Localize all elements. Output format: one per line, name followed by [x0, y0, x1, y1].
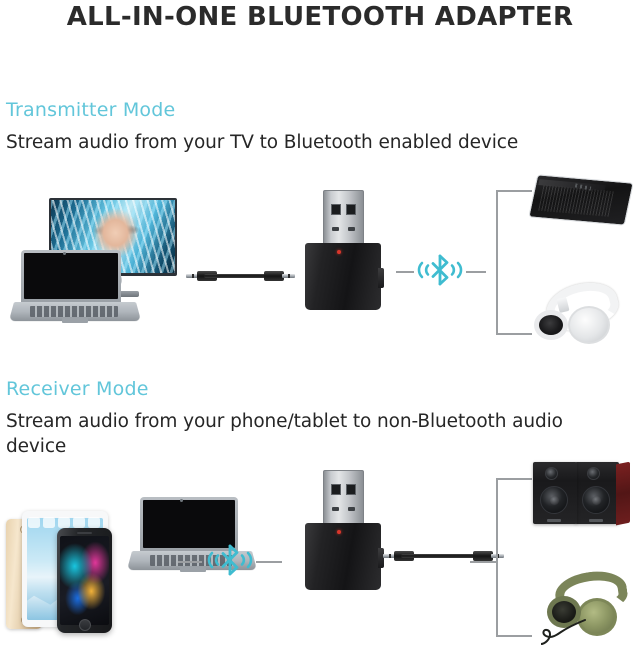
- usb-notch: [332, 227, 339, 231]
- phone-home-button: [79, 619, 91, 631]
- bracket-branch-headphones: [496, 333, 532, 335]
- page-title: ALL-IN-ONE BLUETOOTH ADAPTER: [0, 2, 640, 32]
- led-indicator-icon: [337, 250, 341, 254]
- headphones-earcup-left: [534, 310, 568, 340]
- usb-a-connector: [323, 470, 364, 526]
- usb-contact-slot: [346, 484, 356, 495]
- laptop-webcam-icon: [63, 252, 66, 255]
- connector-line-bt-to-bracket: [466, 271, 486, 273]
- speaker-woofer: [540, 486, 568, 514]
- connector-line-devices-to-bt: [178, 561, 202, 563]
- speaker-badge: [589, 519, 603, 522]
- connector-line-bt-to-adapter: [256, 561, 282, 563]
- speaker-right: [575, 462, 619, 524]
- usb-bluetooth-adapter-transmitter: [305, 190, 381, 310]
- speaker-left: [533, 462, 577, 524]
- speaker-tweeter: [545, 467, 558, 480]
- speaker-tweeter: [587, 467, 600, 480]
- aux-plug-tip-right: [491, 554, 504, 558]
- aux-cable-transmitter: [186, 270, 294, 282]
- usb-contact-slot: [331, 484, 341, 495]
- laptop-transmitter: [14, 250, 136, 324]
- aux-plug-body-right: [264, 271, 284, 281]
- usb-a-connector: [323, 190, 364, 246]
- usb-bluetooth-adapter-receiver: [305, 470, 381, 590]
- app-icon: [73, 517, 85, 528]
- transmitter-mode-heading: Transmitter Mode: [6, 99, 175, 121]
- bookshelf-speakers: [533, 462, 635, 528]
- headphones-cable: [541, 618, 597, 646]
- laptop-webcam-icon: [180, 499, 183, 502]
- phone-earpiece-speaker: [77, 532, 92, 534]
- receiver-mode-description: Stream audio from your phone/tablet to n…: [6, 409, 606, 459]
- app-icon: [43, 517, 55, 528]
- laptop-keyboard: [30, 306, 118, 317]
- usb-contact-slot: [331, 204, 341, 215]
- speaker-woofer: [582, 486, 610, 514]
- transmitter-mode-description: Stream audio from your TV to Bluetooth e…: [6, 130, 606, 155]
- adapter-body: [305, 243, 381, 310]
- bluetooth-icon: [412, 250, 468, 290]
- bracket-branch-speakers: [496, 478, 532, 480]
- usb-notch: [332, 507, 339, 511]
- smartphone: [57, 528, 112, 633]
- usb-contact-slot: [346, 204, 356, 215]
- bracket-branch-speaker: [496, 190, 532, 192]
- bluetooth-speaker: [533, 172, 633, 234]
- app-icon: [58, 517, 70, 528]
- adapter-mode-button[interactable]: [378, 268, 384, 288]
- phone-screen-wallpaper: [60, 536, 109, 625]
- speaker-badge: [547, 519, 561, 522]
- bracket-vertical-transmitter: [496, 190, 498, 334]
- headphones-earcup-right: [568, 306, 610, 344]
- bracket-branch-headphones: [496, 635, 532, 637]
- adapter-body: [305, 523, 381, 590]
- laptop-trackpad: [62, 318, 88, 323]
- white-headphones: [530, 282, 630, 344]
- green-headphones: [533, 572, 637, 646]
- laptop-screen: [24, 253, 118, 299]
- led-indicator-icon: [337, 530, 341, 534]
- usb-notch: [348, 227, 355, 231]
- connector-line-cable-to-bracket: [470, 561, 497, 563]
- bracket-vertical-receiver: [496, 478, 498, 636]
- app-icon: [88, 517, 100, 528]
- infographic-page: ALL-IN-ONE BLUETOOTH ADAPTER Transmitter…: [0, 0, 640, 649]
- aux-plug-tip-right: [282, 274, 295, 278]
- bluetooth-icon: [202, 540, 258, 580]
- aux-plug-body-right: [473, 551, 493, 561]
- receiver-mode-heading: Receiver Mode: [6, 378, 149, 400]
- usb-notch: [348, 507, 355, 511]
- app-icon: [28, 517, 40, 528]
- laptop-lid: [21, 250, 121, 303]
